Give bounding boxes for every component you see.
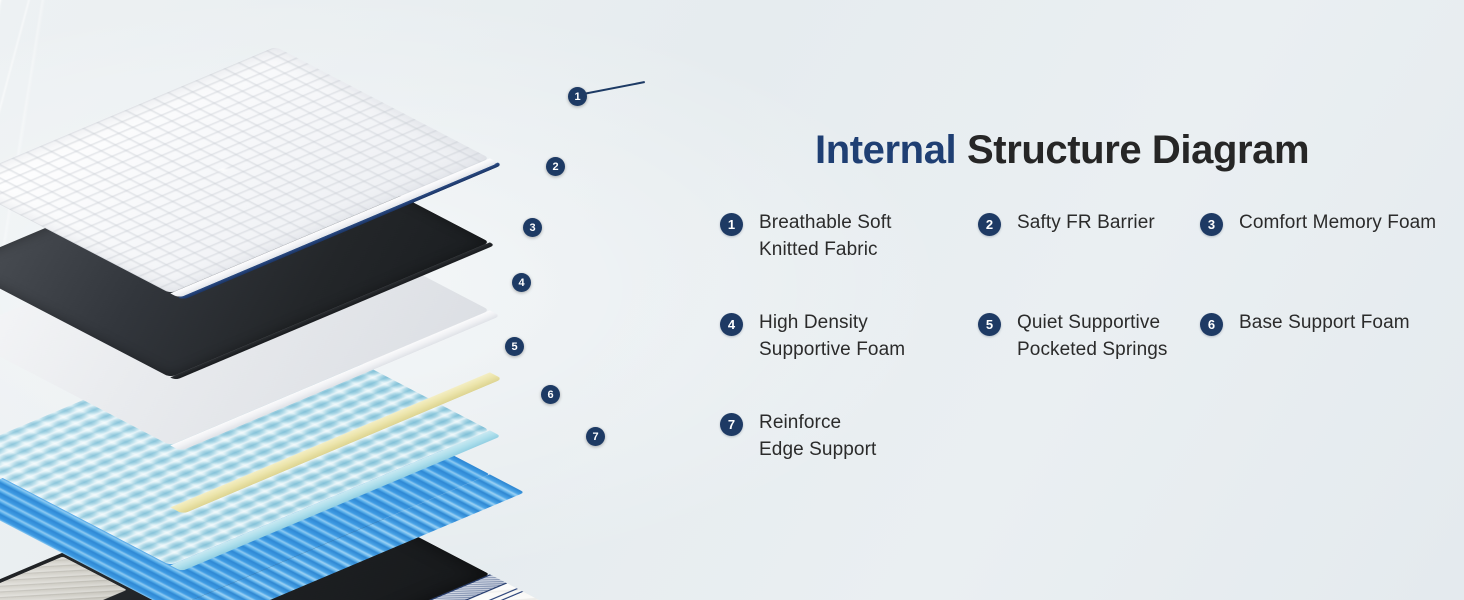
legend-label-4: High Density Supportive Foam xyxy=(759,310,905,364)
page-title-rest: Structure Diagram xyxy=(956,128,1309,172)
legend-badge-6: 6 xyxy=(1200,313,1223,336)
page-title: Internal Structure Diagram xyxy=(815,128,1309,173)
legend-item-5[interactable]: 5 Quiet Supportive Pocketed Springs xyxy=(978,310,1200,410)
diagram-marker-5[interactable]: 5 xyxy=(505,337,524,356)
legend-badge-3: 3 xyxy=(1200,213,1223,236)
legend-label-6: Base Support Foam xyxy=(1239,310,1410,337)
legend-label-7: Reinforce Edge Support xyxy=(759,410,876,464)
legend-label-1: Breathable Soft Knitted Fabric xyxy=(759,210,891,264)
page-title-highlight: Internal xyxy=(815,128,956,172)
diagram-marker-1[interactable]: 1 xyxy=(568,87,587,106)
legend-label-3: Comfort Memory Foam xyxy=(1239,210,1436,237)
legend-item-2[interactable]: 2 Safty FR Barrier xyxy=(978,210,1200,310)
legend-badge-5: 5 xyxy=(978,313,1001,336)
mattress-exploded-diagram: 1 2 3 4 5 6 7 xyxy=(0,0,680,600)
legend-list: 1 Breathable Soft Knitted Fabric 2 Safty… xyxy=(720,210,1464,464)
diagram-marker-3[interactable]: 3 xyxy=(523,218,542,237)
legend-badge-2: 2 xyxy=(978,213,1001,236)
legend-label-2: Safty FR Barrier xyxy=(1017,210,1155,237)
legend-badge-4: 4 xyxy=(720,313,743,336)
legend-item-3[interactable]: 3 Comfort Memory Foam xyxy=(1200,210,1464,310)
legend-item-6[interactable]: 6 Base Support Foam xyxy=(1200,310,1464,410)
diagram-marker-2[interactable]: 2 xyxy=(546,157,565,176)
legend-item-7[interactable]: 7 Reinforce Edge Support xyxy=(720,410,978,464)
legend-badge-1: 1 xyxy=(720,213,743,236)
legend-item-1[interactable]: 1 Breathable Soft Knitted Fabric xyxy=(720,210,978,310)
diagram-marker-7[interactable]: 7 xyxy=(586,427,605,446)
diagram-stage: 1 2 3 4 5 6 7 Internal Structure Diagram… xyxy=(0,0,1464,600)
diagram-marker-6[interactable]: 6 xyxy=(541,385,560,404)
legend-item-4[interactable]: 4 High Density Supportive Foam xyxy=(720,310,978,410)
legend-label-5: Quiet Supportive Pocketed Springs xyxy=(1017,310,1168,364)
info-panel: Internal Structure Diagram 1 Breathable … xyxy=(700,0,1464,600)
diagram-marker-4[interactable]: 4 xyxy=(512,273,531,292)
legend-badge-7: 7 xyxy=(720,413,743,436)
